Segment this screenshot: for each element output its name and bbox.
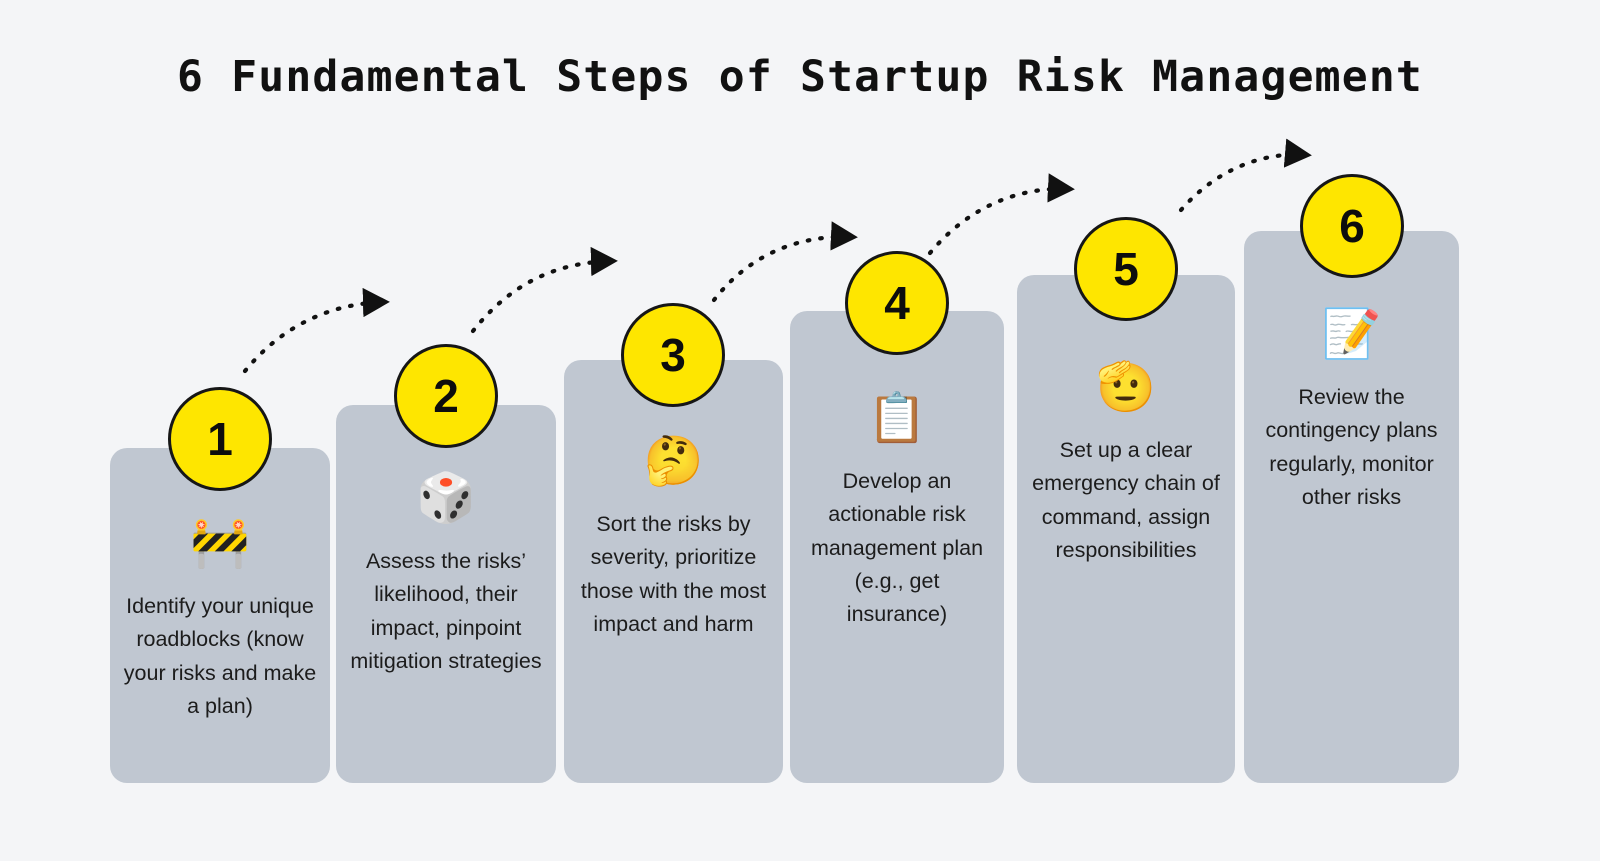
step-6[interactable]: 6 📝 Review the contingency plans regular…	[1244, 231, 1459, 783]
step-3-text: Sort the risks by severity, prioritize t…	[576, 508, 771, 641]
step-1[interactable]: 1 🚧 Identify your unique roadblocks (kno…	[110, 448, 330, 783]
step-5-number: 5	[1113, 242, 1139, 296]
clipboard-icon: 📋	[867, 395, 927, 443]
infographic-canvas: 6 Fundamental Steps of Startup Risk Mana…	[0, 0, 1600, 861]
step-3-number: 3	[660, 328, 686, 382]
step-2[interactable]: 2 🎲 Assess the risks’ likelihood, their …	[336, 405, 556, 783]
step-4[interactable]: 4 📋 Develop an actionable risk managemen…	[790, 311, 1004, 783]
step-5[interactable]: 5 🫡 Set up a clear emergency chain of co…	[1017, 275, 1235, 783]
step-1-text: Identify your unique roadblocks (know yo…	[122, 590, 318, 723]
memo-icon: 📝	[1322, 311, 1382, 359]
step-4-badge: 4	[845, 251, 949, 355]
step-3-badge: 3	[621, 303, 725, 407]
step-2-badge: 2	[394, 344, 498, 448]
step-5-badge: 5	[1074, 217, 1178, 321]
step-2-number: 2	[433, 369, 459, 423]
connector-5-to-6	[1181, 155, 1307, 210]
step-3[interactable]: 3 🤔 Sort the risks by severity, prioriti…	[564, 360, 783, 783]
connector-3-to-4	[714, 237, 853, 300]
step-1-badge: 1	[168, 387, 272, 491]
saluting-face-icon: 🫡	[1096, 364, 1156, 412]
step-4-number: 4	[884, 276, 910, 330]
step-1-number: 1	[207, 412, 233, 466]
connector-4-to-5	[930, 189, 1070, 253]
thinking-face-icon: 🤔	[644, 438, 704, 486]
construction-barrier-icon: 🚧	[190, 520, 250, 568]
step-2-text: Assess the risks’ likelihood, their impa…	[348, 545, 544, 678]
step-6-number: 6	[1339, 199, 1365, 253]
connector-1-to-2	[245, 302, 385, 371]
step-6-text: Review the contingency plans regularly, …	[1256, 381, 1447, 514]
page-title: 6 Fundamental Steps of Startup Risk Mana…	[0, 52, 1600, 102]
game-die-icon: 🎲	[416, 475, 476, 523]
step-4-text: Develop an actionable risk management pl…	[802, 465, 992, 632]
connector-2-to-3	[473, 261, 613, 331]
step-6-badge: 6	[1300, 174, 1404, 278]
step-5-text: Set up a clear emergency chain of comman…	[1029, 434, 1223, 567]
